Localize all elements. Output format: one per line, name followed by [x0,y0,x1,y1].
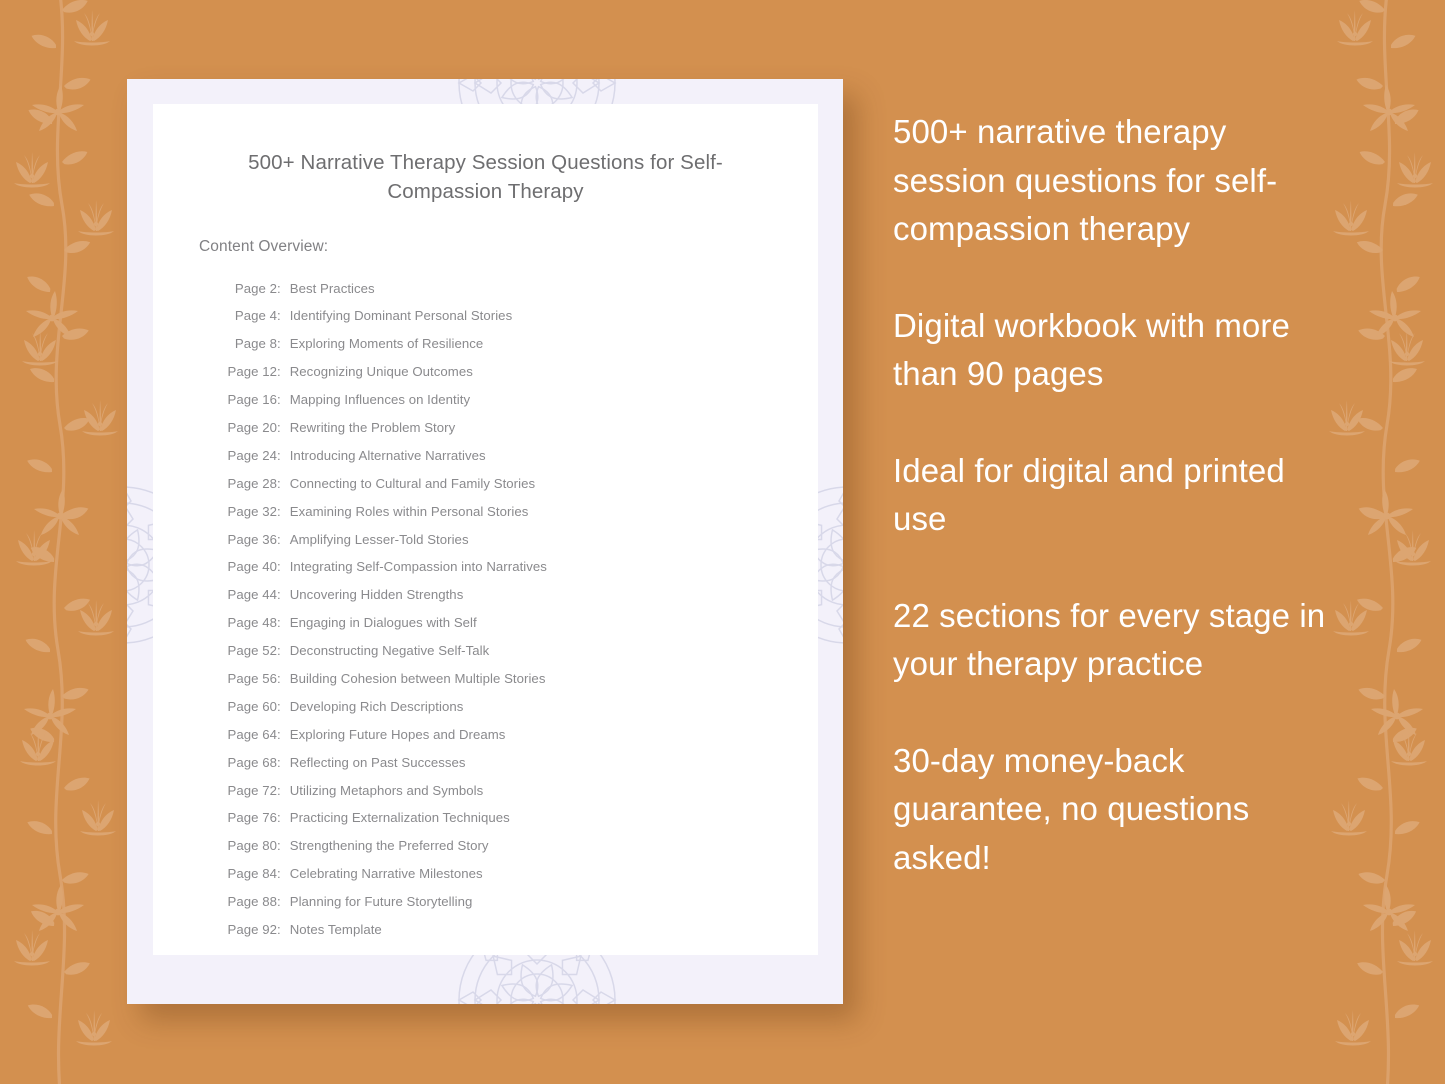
toc-entry-page: Page 16 [221,393,277,406]
toc-entry-page: Page 8 [221,337,277,350]
toc-entry-separator: : [277,421,290,434]
toc-entry-separator: : [277,477,290,490]
toc-entry: Page 24:Introducing Alternative Narrativ… [221,442,818,470]
workbook-page: 500+ Narrative Therapy Session Questions… [153,104,818,955]
toc-entry-page: Page 88 [221,895,277,908]
floral-vine-border-right-icon [1319,0,1445,1084]
toc-entry-title: Connecting to Cultural and Family Storie… [290,477,535,490]
toc-entry-title: Integrating Self-Compassion into Narrati… [290,560,547,573]
toc-entry-separator: : [277,449,290,462]
toc-entry-separator: : [277,895,290,908]
toc-entry-title: Planning for Future Storytelling [290,895,473,908]
toc-entry-page: Page 40 [221,560,277,573]
toc-entry: Page 56:Building Cohesion between Multip… [221,665,818,693]
toc-entry-separator: : [277,393,290,406]
toc-entry: Page 88:Planning for Future Storytelling [221,888,818,916]
content-overview-label: Content Overview: [153,206,818,256]
toc-entry: Page 48:Engaging in Dialogues with Self [221,609,818,637]
toc-entry-title: Best Practices [290,282,375,295]
toc-entry-separator: : [277,700,290,713]
marketing-claims-list: 500+ narrative therapy session questions… [893,108,1333,882]
toc-entry-title: Building Cohesion between Multiple Stori… [290,672,546,685]
toc-entry: Page 80:Strengthening the Preferred Stor… [221,832,818,860]
toc-entry-separator: : [277,811,290,824]
toc-entry: Page 84:Celebrating Narrative Milestones [221,860,818,888]
floral-vine-border-left-icon [0,0,128,1084]
toc-entry: Page 68:Reflecting on Past Successes [221,748,818,776]
toc-entry-page: Page 64 [221,728,277,741]
toc-entry-page: Page 80 [221,839,277,852]
toc-entry-separator: : [277,784,290,797]
toc-entry: Page 92:Notes Template [221,916,818,944]
toc-entry: Page 60:Developing Rich Descriptions [221,693,818,721]
toc-entry-page: Page 36 [221,533,277,546]
toc-entry-page: Page 48 [221,616,277,629]
toc-entry: Page 12:Recognizing Unique Outcomes [221,358,818,386]
toc-entry-separator: : [277,309,290,322]
marketing-claim: 500+ narrative therapy session questions… [893,108,1333,254]
toc-entry-separator: : [277,505,290,518]
toc-entry-title: Engaging in Dialogues with Self [290,616,477,629]
toc-entry-separator: : [277,644,290,657]
toc-entry: Page 20:Rewriting the Problem Story [221,414,818,442]
toc-entry-title: Identifying Dominant Personal Stories [290,309,513,322]
toc-entry-separator: : [277,588,290,601]
toc-entry-title: Uncovering Hidden Strengths [290,588,464,601]
toc-entry-title: Examining Roles within Personal Stories [290,505,529,518]
toc-entry-title: Exploring Moments of Resilience [290,337,484,350]
toc-entry: Page 64:Exploring Future Hopes and Dream… [221,720,818,748]
toc-entry: Page 4:Identifying Dominant Personal Sto… [221,302,818,330]
toc-entry-title: Introducing Alternative Narratives [290,449,486,462]
toc-entry-page: Page 24 [221,449,277,462]
toc-entry: Page 2:Best Practices [221,274,818,302]
marketing-claim: Ideal for digital and printed use [893,447,1333,544]
toc-entry-separator: : [277,365,290,378]
toc-entry: Page 40:Integrating Self-Compassion into… [221,553,818,581]
toc-entry-page: Page 60 [221,700,277,713]
toc-entry-title: Amplifying Lesser-Told Stories [290,533,469,546]
toc-entry-separator: : [277,616,290,629]
toc-entry: Page 44:Uncovering Hidden Strengths [221,581,818,609]
page-title: 500+ Narrative Therapy Session Questions… [153,104,818,206]
toc-entry-title: Exploring Future Hopes and Dreams [290,728,506,741]
product-preview-card: 500+ Narrative Therapy Session Questions… [127,79,843,1004]
toc-entry-page: Page 68 [221,756,277,769]
toc-entry-title: Utilizing Metaphors and Symbols [290,784,484,797]
toc-entry-page: Page 56 [221,672,277,685]
poster-canvas: 500+ Narrative Therapy Session Questions… [0,0,1445,1084]
toc-entry-title: Mapping Influences on Identity [290,393,470,406]
toc-entry-page: Page 76 [221,811,277,824]
toc-entry: Page 8:Exploring Moments of Resilience [221,330,818,358]
toc-entry-title: Rewriting the Problem Story [290,421,456,434]
toc-entry-separator: : [277,756,290,769]
toc-entry: Page 16:Mapping Influences on Identity [221,386,818,414]
toc-entry-page: Page 72 [221,784,277,797]
toc-entry-title: Notes Template [290,923,382,936]
toc-entry-separator: : [277,867,290,880]
toc-entry-page: Page 2 [221,282,277,295]
toc-entry-separator: : [277,560,290,573]
toc-entry-page: Page 52 [221,644,277,657]
toc-entry-page: Page 44 [221,588,277,601]
table-of-contents: Page 2:Best PracticesPage 4:Identifying … [153,256,818,943]
toc-entry-title: Deconstructing Negative Self-Talk [290,644,490,657]
toc-entry-separator: : [277,923,290,936]
toc-entry-page: Page 92 [221,923,277,936]
toc-entry-separator: : [277,728,290,741]
marketing-claim: Digital workbook with more than 90 pages [893,302,1333,399]
toc-entry-page: Page 84 [221,867,277,880]
toc-entry: Page 32:Examining Roles within Personal … [221,497,818,525]
toc-entry-title: Celebrating Narrative Milestones [290,867,483,880]
toc-entry-title: Reflecting on Past Successes [290,756,466,769]
toc-entry-title: Recognizing Unique Outcomes [290,365,473,378]
toc-entry: Page 76:Practicing Externalization Techn… [221,804,818,832]
toc-entry-title: Strengthening the Preferred Story [290,839,489,852]
toc-entry-page: Page 12 [221,365,277,378]
toc-entry: Page 72:Utilizing Metaphors and Symbols [221,776,818,804]
toc-entry: Page 28:Connecting to Cultural and Famil… [221,469,818,497]
toc-entry-separator: : [277,337,290,350]
toc-entry-separator: : [277,839,290,852]
toc-entry-page: Page 4 [221,309,277,322]
toc-entry-page: Page 28 [221,477,277,490]
toc-entry-title: Practicing Externalization Techniques [290,811,510,824]
toc-entry-separator: : [277,282,290,295]
toc-entry: Page 36:Amplifying Lesser-Told Stories [221,525,818,553]
toc-entry-separator: : [277,672,290,685]
toc-entry-separator: : [277,533,290,546]
marketing-claim: 22 sections for every stage in your ther… [893,592,1333,689]
toc-entry-page: Page 32 [221,505,277,518]
toc-entry-title: Developing Rich Descriptions [290,700,464,713]
marketing-claim: 30-day money-back guarantee, no question… [893,737,1333,883]
toc-entry-page: Page 20 [221,421,277,434]
toc-entry: Page 52:Deconstructing Negative Self-Tal… [221,637,818,665]
